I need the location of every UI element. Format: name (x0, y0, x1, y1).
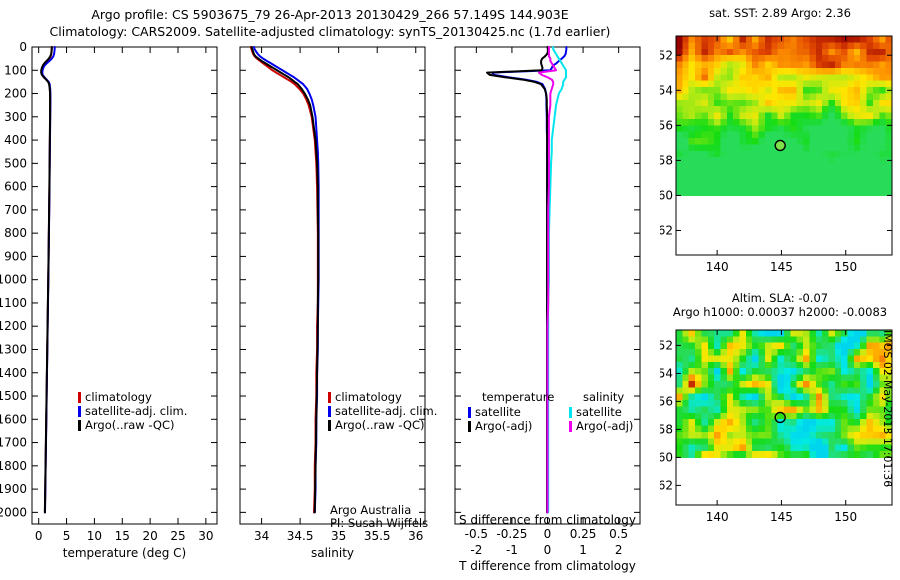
field-cell (790, 368, 797, 375)
field-cell (727, 119, 734, 126)
field-cell (784, 406, 791, 413)
field-cell (873, 362, 880, 369)
field-cell (701, 362, 708, 369)
field-cell (695, 106, 702, 113)
field-cell (733, 138, 740, 145)
temperature-legend-swatch (78, 406, 81, 417)
field-cell (689, 138, 696, 145)
field-cell (708, 413, 715, 420)
field-cell (860, 438, 867, 445)
field-cell (828, 375, 835, 382)
field-cell (727, 336, 734, 343)
field-cell (720, 362, 727, 369)
field-cell (714, 413, 721, 420)
field-cell (759, 170, 766, 177)
field-cell (733, 349, 740, 356)
field-cell (835, 36, 842, 43)
field-cell (873, 93, 880, 100)
field-cell (835, 144, 842, 151)
field-cell (759, 189, 766, 196)
field-cell (746, 381, 753, 388)
field-cell (778, 119, 785, 126)
field-cell (867, 176, 874, 183)
field-cell (771, 451, 778, 458)
field-cell (695, 426, 702, 433)
field-cell (720, 81, 727, 88)
sla-map[interactable]: -52-54-56-58-60-62140145150 (660, 320, 900, 580)
field-cell (676, 343, 683, 350)
field-cell (682, 157, 689, 164)
field-cell (778, 62, 785, 69)
field-cell (797, 349, 804, 356)
field-cell (867, 355, 874, 362)
field-cell (701, 106, 708, 113)
field-cell (765, 368, 772, 375)
field-cell (689, 432, 696, 439)
field-cell (778, 375, 785, 382)
field-cell (873, 42, 880, 49)
field-cell (752, 36, 759, 43)
field-cell (803, 36, 810, 43)
field-cell (727, 419, 734, 426)
s-diff-tick-label: -0.25 (496, 527, 527, 541)
field-cell (695, 81, 702, 88)
field-cell (708, 119, 715, 126)
field-cell (797, 330, 804, 337)
field-cell (854, 413, 861, 420)
field-cell (854, 93, 861, 100)
field-cell (708, 355, 715, 362)
field-cell (835, 394, 842, 401)
field-cell (771, 106, 778, 113)
field-cell (771, 119, 778, 126)
field-cell (727, 394, 734, 401)
field-cell (746, 36, 753, 43)
field-cell (867, 419, 874, 426)
field-cell (828, 330, 835, 337)
field-cell (860, 125, 867, 132)
field-cell (740, 387, 747, 394)
field-cell (848, 362, 855, 369)
field-cell (867, 151, 874, 158)
field-cell (727, 387, 734, 394)
field-cell (752, 413, 759, 420)
field-cell (778, 42, 785, 49)
depth-tick-label: 200 (4, 87, 27, 101)
field-cell (828, 387, 835, 394)
field-cell (879, 49, 886, 56)
difference-axis-label-bottom: T difference from climatology (458, 559, 636, 573)
field-cell (714, 144, 721, 151)
field-cell (822, 138, 829, 145)
field-cell (835, 113, 842, 120)
field-cell (727, 36, 734, 43)
field-cell (708, 74, 715, 81)
field-cell (695, 368, 702, 375)
field-cell (816, 87, 823, 94)
depth-tick-label: 1000 (0, 273, 27, 287)
field-cell (816, 362, 823, 369)
field-cell (854, 368, 861, 375)
field-cell (720, 413, 727, 420)
field-cell (822, 113, 829, 120)
field-cell (701, 176, 708, 183)
field-cell (867, 387, 874, 394)
field-cell (860, 81, 867, 88)
field-cell (727, 438, 734, 445)
field-cell (822, 183, 829, 190)
field-cell (740, 330, 747, 337)
field-cell (778, 68, 785, 75)
lon-tick-label: 140 (706, 260, 729, 274)
field-cell (771, 426, 778, 433)
field-cell (720, 100, 727, 107)
field-cell (689, 42, 696, 49)
field-cell (682, 49, 689, 56)
field-cell (816, 419, 823, 426)
field-cell (740, 349, 747, 356)
field-cell (841, 336, 848, 343)
field-cell (740, 62, 747, 69)
field-cell (727, 100, 734, 107)
field-cell (752, 170, 759, 177)
field-cell (867, 55, 874, 62)
field-cell (790, 170, 797, 177)
field-cell (746, 81, 753, 88)
field-cell (689, 62, 696, 69)
field-cell (841, 144, 848, 151)
field-cell (759, 151, 766, 158)
field-cell (740, 144, 747, 151)
field-cell (816, 119, 823, 126)
field-cell (816, 144, 823, 151)
field-cell (867, 42, 874, 49)
field-cell (720, 49, 727, 56)
field-cell (701, 100, 708, 107)
field-cell (873, 368, 880, 375)
field-cell (778, 451, 785, 458)
field-cell (720, 74, 727, 81)
field-cell (701, 394, 708, 401)
field-cell (727, 349, 734, 356)
field-cell (860, 400, 867, 407)
field-cell (701, 355, 708, 362)
field-cell (759, 381, 766, 388)
field-cell (682, 189, 689, 196)
field-cell (689, 144, 696, 151)
field-cell (733, 157, 740, 164)
field-cell (860, 119, 867, 126)
field-cell (778, 170, 785, 177)
field-cell (854, 170, 861, 177)
field-cell (701, 62, 708, 69)
field-cell (740, 451, 747, 458)
field-cell (746, 68, 753, 75)
field-cell (816, 400, 823, 407)
field-cell (682, 349, 689, 356)
field-cell (848, 355, 855, 362)
field-cell (676, 100, 683, 107)
field-cell (854, 387, 861, 394)
field-cell (854, 55, 861, 62)
field-cell (714, 138, 721, 145)
field-cell (867, 343, 874, 350)
field-cell (809, 362, 816, 369)
field-cell (727, 330, 734, 337)
field-cell (803, 151, 810, 158)
field-cell (860, 189, 867, 196)
field-cell (841, 151, 848, 158)
field-cell (803, 400, 810, 407)
field-cell (727, 42, 734, 49)
field-cell (803, 81, 810, 88)
field-cell (841, 125, 848, 132)
field-cell (746, 164, 753, 171)
field-cell (708, 144, 715, 151)
field-cell (746, 151, 753, 158)
field-cell (860, 426, 867, 433)
field-cell (822, 151, 829, 158)
field-cell (809, 413, 816, 420)
field-cell (816, 176, 823, 183)
field-cell (720, 87, 727, 94)
field-cell (873, 451, 880, 458)
field-cell (790, 81, 797, 88)
field-cell (682, 55, 689, 62)
field-cell (727, 183, 734, 190)
field-cell (714, 368, 721, 375)
field-cell (727, 125, 734, 132)
field-cell (720, 400, 727, 407)
field-cell (790, 113, 797, 120)
field-cell (727, 87, 734, 94)
field-cell (828, 42, 835, 49)
field-cell (746, 406, 753, 413)
field-cell (701, 49, 708, 56)
field-cell (676, 375, 683, 382)
field-cell (860, 451, 867, 458)
field-cell (809, 381, 816, 388)
field-cell (879, 36, 886, 43)
field-cell (689, 400, 696, 407)
field-cell (708, 438, 715, 445)
field-cell (676, 445, 683, 452)
field-cell (790, 362, 797, 369)
field-cell (803, 406, 810, 413)
field-cell (733, 87, 740, 94)
field-cell (816, 189, 823, 196)
field-cell (822, 157, 829, 164)
field-cell (867, 189, 874, 196)
field-cell (695, 400, 702, 407)
field-cell (740, 381, 747, 388)
field-cell (727, 138, 734, 145)
field-cell (784, 81, 791, 88)
temperature-legend-swatch (78, 420, 81, 431)
field-cell (740, 113, 747, 120)
field-cell (809, 113, 816, 120)
field-cell (727, 113, 734, 120)
difference-legend-salinity-label: satellite (576, 405, 622, 419)
field-cell (828, 164, 835, 171)
depth-tick-label: 0 (19, 40, 27, 54)
sst-map[interactable]: -52-54-56-58-60-62140145150 (660, 26, 900, 291)
field-cell (848, 381, 855, 388)
field-cell (841, 176, 848, 183)
field-cell (778, 349, 785, 356)
field-cell (682, 164, 689, 171)
field-cell (778, 151, 785, 158)
field-cell (759, 144, 766, 151)
field-cell (784, 93, 791, 100)
field-cell (841, 394, 848, 401)
field-cell (740, 74, 747, 81)
field-cell (828, 68, 835, 75)
field-cell (771, 87, 778, 94)
field-cell (701, 336, 708, 343)
field-cell (771, 330, 778, 337)
field-cell (733, 413, 740, 420)
field-cell (854, 406, 861, 413)
field-cell (740, 413, 747, 420)
field-cell (803, 183, 810, 190)
field-cell (689, 100, 696, 107)
field-cell (860, 362, 867, 369)
field-cell (740, 343, 747, 350)
field-cell (867, 68, 874, 75)
field-cell (784, 119, 791, 126)
field-cell (803, 87, 810, 94)
profile-location-marker[interactable] (775, 140, 785, 150)
field-cell (822, 426, 829, 433)
field-cell (828, 381, 835, 388)
salinity-legend-label: satellite-adj. clim. (335, 404, 437, 418)
field-cell (854, 164, 861, 171)
field-cell (765, 81, 772, 88)
field-cell (778, 387, 785, 394)
depth-tick-label: 1900 (0, 482, 27, 496)
field-cell (746, 413, 753, 420)
field-cell (803, 330, 810, 337)
field-cell (784, 394, 791, 401)
field-cell (720, 93, 727, 100)
field-cell (790, 432, 797, 439)
field-cell (733, 74, 740, 81)
field-cell (771, 62, 778, 69)
field-cell (873, 55, 880, 62)
field-cell (720, 119, 727, 126)
field-cell (809, 62, 816, 69)
field-cell (828, 362, 835, 369)
field-cell (784, 62, 791, 69)
field-cell (746, 330, 753, 337)
field-cell (848, 413, 855, 420)
field-cell (733, 426, 740, 433)
field-cell (720, 387, 727, 394)
field-cell (854, 74, 861, 81)
field-cell (860, 36, 867, 43)
field-cell (790, 100, 797, 107)
field-cell (778, 49, 785, 56)
field-cell (682, 426, 689, 433)
field-cell (759, 164, 766, 171)
field-cell (701, 189, 708, 196)
field-cell (740, 106, 747, 113)
field-cell (695, 349, 702, 356)
field-cell (676, 36, 683, 43)
field-cell (797, 125, 804, 132)
temperature-axis-label: temperature (deg C) (63, 546, 186, 560)
field-cell (708, 419, 715, 426)
field-cell (784, 42, 791, 49)
field-cell (695, 394, 702, 401)
field-cell (695, 419, 702, 426)
field-cell (720, 151, 727, 158)
field-cell (689, 419, 696, 426)
field-cell (746, 49, 753, 56)
field-cell (727, 49, 734, 56)
field-cell (797, 336, 804, 343)
x-tick-label: 36 (408, 529, 423, 543)
field-cell (784, 426, 791, 433)
field-cell (765, 375, 772, 382)
field-cell (676, 138, 683, 145)
field-cell (848, 330, 855, 337)
field-cell (689, 157, 696, 164)
field-cell (797, 36, 804, 43)
field-cell (752, 132, 759, 139)
field-cell (854, 336, 861, 343)
field-cell (759, 413, 766, 420)
field-cell (771, 151, 778, 158)
field-cell (740, 183, 747, 190)
field-cell (835, 413, 842, 420)
lat-tick-label: -52 (660, 48, 673, 62)
field-cell (848, 49, 855, 56)
field-cell (676, 119, 683, 126)
field-cell (759, 368, 766, 375)
field-cell (867, 375, 874, 382)
field-cell (873, 106, 880, 113)
field-cell (860, 62, 867, 69)
field-cell (740, 176, 747, 183)
field-cell (828, 55, 835, 62)
field-cell (682, 381, 689, 388)
field-cell (790, 355, 797, 362)
field-cell (771, 68, 778, 75)
field-cell (727, 432, 734, 439)
field-cell (835, 176, 842, 183)
s-diff-tick-label: 0 (544, 527, 552, 541)
field-cell (797, 176, 804, 183)
field-cell (803, 55, 810, 62)
field-cell (790, 132, 797, 139)
field-cell (676, 336, 683, 343)
field-cell (873, 151, 880, 158)
field-cell (759, 387, 766, 394)
field-cell (765, 132, 772, 139)
field-cell (790, 157, 797, 164)
field-cell (752, 394, 759, 401)
field-cell (714, 49, 721, 56)
field-cell (835, 81, 842, 88)
field-cell (752, 368, 759, 375)
field-cell (695, 87, 702, 94)
field-cell (720, 343, 727, 350)
field-cell (714, 119, 721, 126)
field-cell (828, 189, 835, 196)
field-cell (797, 362, 804, 369)
